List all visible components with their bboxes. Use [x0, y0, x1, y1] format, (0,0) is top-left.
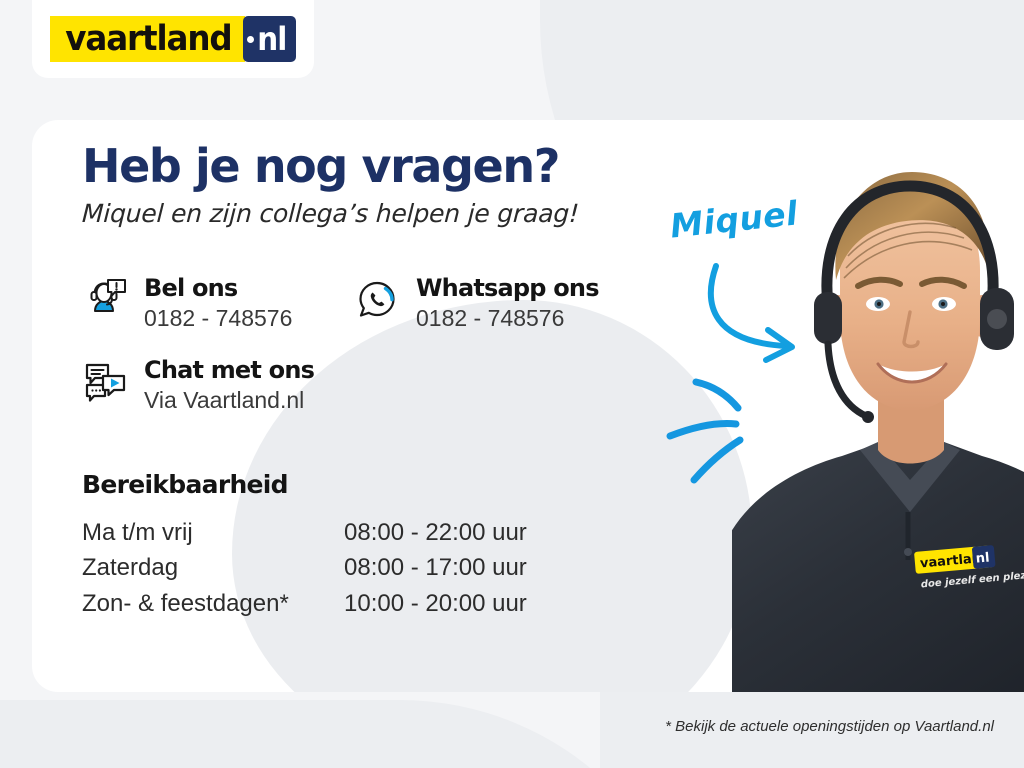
- accent-line-3: [694, 440, 740, 480]
- availability-section: Bereikbaarheid Ma t/m vrij 08:00 - 22:00…: [82, 470, 626, 622]
- availability-title: Bereikbaarheid: [82, 470, 626, 499]
- availability-time-weekdays: 08:00 - 22:00 uur: [344, 515, 527, 551]
- contact-whatsapp-number[interactable]: 0182 - 748576: [416, 305, 599, 331]
- contact-method-call[interactable]: Bel ons 0182 - 748576: [82, 275, 354, 331]
- availability-day-saturday: Zaterdag: [82, 550, 344, 586]
- polo-button: [904, 548, 912, 556]
- earcup-left-small: [92, 292, 97, 300]
- brand-logo[interactable]: vaartland nl: [32, 0, 314, 78]
- page-subtitle: Miquel en zijn collega’s helpen je graag…: [81, 200, 627, 229]
- availability-time-saturday: 08:00 - 17:00 uur: [344, 550, 527, 586]
- contact-card: vaartland nl doe jezelf een plezier Miqu…: [32, 120, 1024, 692]
- footnote-opening-hours: * Bekijk de actuele openingstijden op Va…: [665, 718, 994, 735]
- contact-whatsapp-title: Whatsapp ons: [416, 275, 599, 302]
- table-row: Ma t/m vrij 08:00 - 22:00 uur: [82, 515, 527, 551]
- whatsapp-icon: [354, 277, 400, 323]
- contact-call-text: Bel ons 0182 - 748576: [144, 275, 292, 331]
- contact-grid-spacer: [354, 357, 626, 413]
- contact-method-whatsapp[interactable]: Whatsapp ons 0182 - 748576: [354, 275, 626, 331]
- pupil-left: [877, 302, 881, 306]
- headset-earcup-dial: [987, 309, 1007, 329]
- availability-day-weekdays: Ma t/m vrij: [82, 515, 344, 551]
- availability-table: Ma t/m vrij 08:00 - 22:00 uur Zaterdag 0…: [82, 515, 527, 622]
- typing-dot-1: [91, 390, 93, 392]
- background-blob-bottom: [0, 700, 700, 768]
- vaartland-logo-lockup: vaartland nl: [50, 16, 296, 62]
- headset-mic-tip: [862, 411, 874, 423]
- typing-dot-2: [95, 390, 97, 392]
- accent-line-1: [696, 382, 738, 408]
- pupil-right: [941, 302, 945, 306]
- availability-day-sunday-holidays: Zon- & feestdagen*: [82, 586, 344, 622]
- logo-dot-icon: [247, 36, 254, 43]
- accent-line-2: [670, 424, 736, 437]
- contact-chat-text: Chat met ons Via Vaartland.nl: [144, 357, 314, 413]
- contact-method-chat[interactable]: Chat met ons Via Vaartland.nl: [82, 357, 354, 413]
- motion-accent-lines-icon: [652, 360, 772, 490]
- headset-person-icon: [82, 277, 128, 323]
- logo-tld-text: nl: [257, 23, 286, 55]
- contact-call-number[interactable]: 0182 - 748576: [144, 305, 292, 331]
- availability-time-sunday-holidays: 10:00 - 20:00 uur: [344, 586, 527, 622]
- contact-whatsapp-text: Whatsapp ons 0182 - 748576: [416, 275, 599, 331]
- whatsapp-bubble: [361, 283, 394, 316]
- page-title: Heb je nog vragen?: [82, 142, 626, 190]
- contact-chat-title: Chat met ons: [144, 357, 314, 384]
- curved-arrow-icon: [700, 260, 830, 370]
- logo-wordmark-text: vaartland: [65, 22, 231, 57]
- table-row: Zon- & feestdagen* 10:00 - 20:00 uur: [82, 586, 527, 622]
- table-row: Zaterdag 08:00 - 17:00 uur: [82, 550, 527, 586]
- chat-bubbles-icon: [82, 359, 128, 405]
- shirt-badge-tld: nl: [975, 550, 990, 566]
- card-content: Heb je nog vragen? Miquel en zijn colleg…: [82, 142, 626, 621]
- typing-dot-3: [99, 390, 101, 392]
- exclamation-dot: [115, 288, 117, 290]
- contact-chat-link[interactable]: Via Vaartland.nl: [144, 387, 314, 413]
- logo-wordmark-plate: vaartland: [50, 16, 245, 62]
- contact-call-title: Bel ons: [144, 275, 292, 302]
- contact-methods-list: Bel ons 0182 - 748576 Whatsapp ons 0182 …: [82, 275, 626, 414]
- logo-tld-plate: nl: [243, 16, 296, 62]
